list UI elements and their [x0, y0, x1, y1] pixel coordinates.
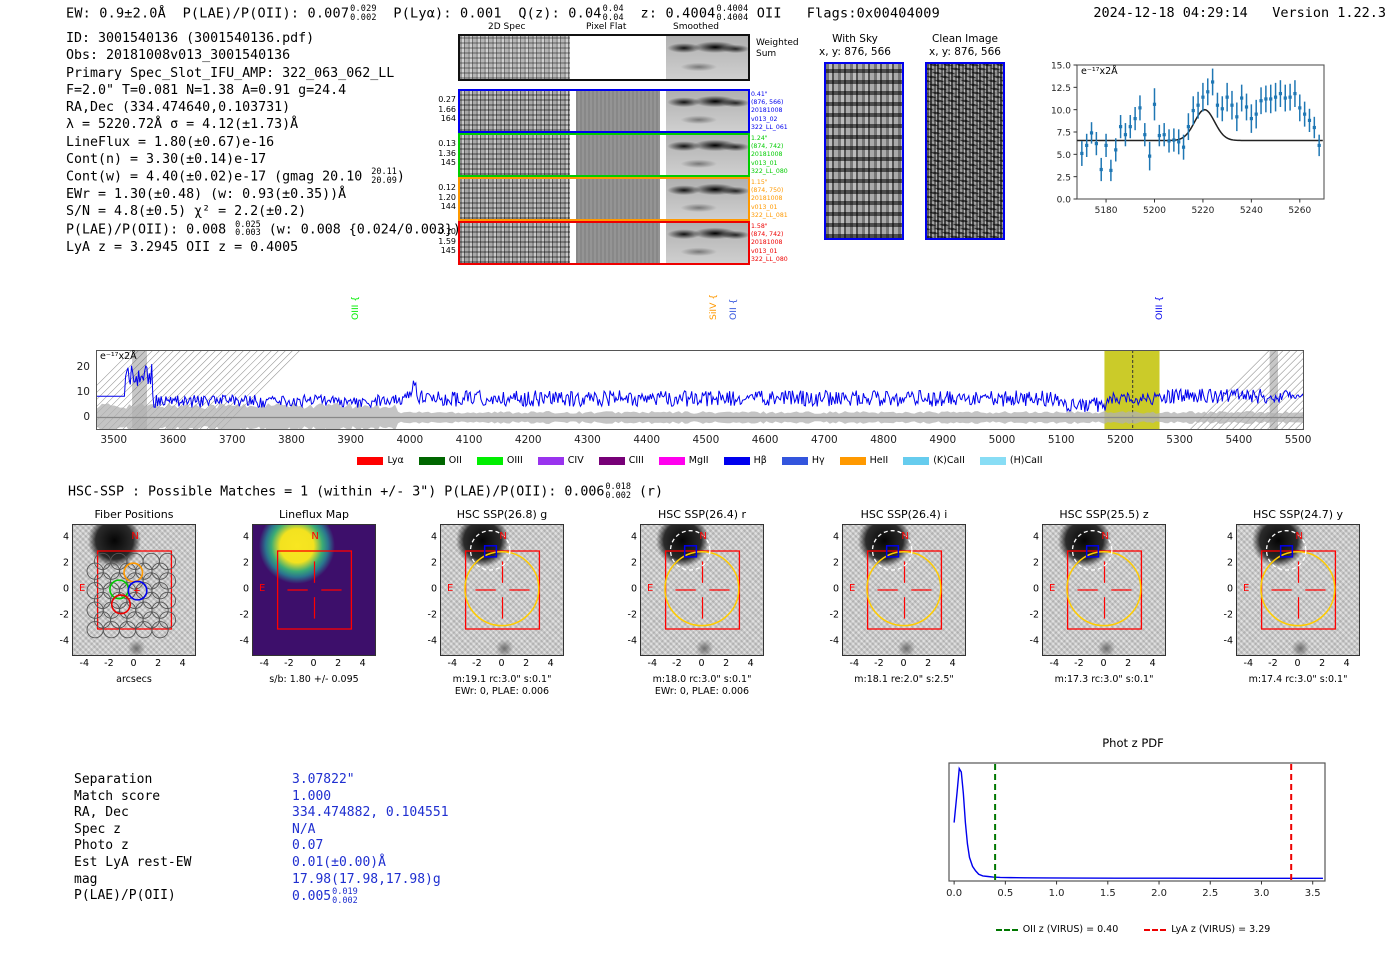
spec2d-row-0-smoothed [666, 91, 748, 131]
spectrum-legend-swatch-6 [724, 457, 750, 465]
with-sky-cutout [824, 62, 904, 240]
spec2d-row-2-smoothed [666, 179, 748, 219]
spectrum-legend-swatch-8 [840, 457, 866, 465]
spectrum-legend: LyαOIIOIIICIVCIIIMgIIHβHγHeII(K)CaII(H)C… [0, 455, 1400, 466]
spectrum-xtick-3500: 3500 [94, 434, 134, 446]
spectrum-xtick-4100: 4100 [449, 434, 489, 446]
hsc-ytick-2-4: -4 [424, 636, 437, 647]
hsc-ytick-0-4: -4 [56, 636, 69, 647]
hsc-ytick-5-3: -2 [1026, 610, 1039, 621]
compass-east-4: E [849, 583, 855, 594]
spectrum-legend-label-7: Hγ [812, 455, 825, 466]
svg-text:15.0: 15.0 [1051, 62, 1071, 72]
spec2d-row-3-smoothed [666, 223, 748, 263]
hsc-xtick-0-1: -2 [104, 658, 113, 669]
hsc-panel-title-5: HSC SSP(25.5) z [1020, 508, 1188, 521]
svg-text:0.0: 0.0 [946, 888, 962, 899]
svg-text:1.0: 1.0 [1049, 888, 1065, 899]
spectrum-legend-label-10: (H)CaII [1010, 455, 1043, 466]
hsc-xtick-1-0: -4 [260, 658, 269, 669]
hsc-panel-title-3: HSC SSP(26.4) r [618, 508, 786, 521]
photz-legend-label-0: OII z (VIRUS) = 0.40 [1023, 924, 1119, 935]
hsc-ytick-1-1: 2 [236, 558, 249, 569]
svg-text:2.5: 2.5 [1202, 888, 1218, 899]
hsc-ytick-1-4: -4 [236, 636, 249, 647]
hsc-panel-caption-2: m:19.1 rc:3.0" s:0.1"EWr: 0, PLAE: 0.006 [414, 674, 590, 698]
compass-north-2: N [499, 531, 506, 542]
hsc-ytick-3-0: 4 [624, 532, 637, 543]
spectrum-line-label-SiIV-18: SiIV { [708, 278, 719, 320]
hsc-panel-caption-3: m:18.0 rc:3.0" s:0.1"EWr: 0, PLAE: 0.006 [614, 674, 790, 698]
header-timestamp: 2024-12-18 04:29:14 [1093, 5, 1247, 21]
match-key-3: Spec z [74, 822, 121, 839]
spec2d-panel-group: 2D SpecPixel FlatSmoothedWeightedSum0.27… [458, 34, 758, 265]
spectrum-legend-item-3: CIV [538, 455, 584, 466]
spectrum-legend-swatch-7 [782, 457, 808, 465]
hsc-headline-lo: 0.002 [605, 492, 631, 501]
svg-text:10.0: 10.0 [1051, 106, 1071, 116]
hsc-ytick-2-2: 0 [424, 584, 437, 595]
spectrum-ytick-20: 20 [68, 361, 90, 373]
hsc-xtick-6-1: -2 [1268, 658, 1277, 669]
hsc-panel-0: Fiber Positions+NE-4-2024420-2-4arcsecs [72, 524, 196, 680]
hsc-xtick-5-3: 2 [1125, 658, 1131, 669]
spectrum-line-markers: OVI {CIII {MgII {MgII {SiIV {Lyα {OII {M… [0, 270, 1400, 360]
param-line-8: Cont(w) = 4.40(±0.02)e-17 (gmag 20.10 20… [66, 168, 461, 186]
header-z-value: 0.4004 [666, 6, 716, 22]
header-ew: EW: 0.9±2.0Å [66, 6, 166, 22]
spectrum-legend-swatch-4 [599, 457, 625, 465]
spec2d-row-2-pixelflat [576, 179, 661, 219]
compass-east-6: E [1243, 583, 1249, 594]
hsc-xtick-2-3: 2 [523, 658, 529, 669]
match-value-0: 3.07822" [292, 772, 355, 789]
spec2d-col-title-2: Smoothed [673, 22, 719, 32]
svg-text:5.0: 5.0 [1057, 151, 1072, 161]
match-value-1: 1.000 [292, 789, 331, 806]
spectrum-xtick-4200: 4200 [508, 434, 548, 446]
svg-text:3.0: 3.0 [1254, 888, 1270, 899]
with-sky-coords: x, y: 876, 566 [795, 46, 915, 59]
header-z-species: OII [757, 6, 782, 22]
hsc-panel-image-5: NE [1042, 524, 1166, 656]
hsc-xtick-4-2: 0 [900, 658, 906, 669]
spectrum-ytick-10: 10 [68, 386, 90, 398]
hsc-ytick-1-3: -2 [236, 610, 249, 621]
match-value-6: 17.98(17.98,17.98)g [292, 872, 441, 889]
param-line-9: EWr = 1.30(±0.48) (w: 0.93(±0.35))Å [66, 186, 461, 203]
spectrum-xtick-4600: 4600 [745, 434, 785, 446]
spectrum-legend-label-4: CIII [629, 455, 644, 466]
spec2d-row-1-right-labels: 1.24"(874, 742)20181008v013_01322_LL_080 [751, 135, 788, 176]
svg-text:5180: 5180 [1095, 206, 1118, 216]
hsc-headline-suffix: (r) [639, 485, 663, 500]
hsc-ytick-0-3: -2 [56, 610, 69, 621]
hsc-xtick-0-0: -4 [80, 658, 89, 669]
weighted-sum-2dspec [460, 36, 570, 79]
spectrum-ytick-0: 0 [68, 411, 90, 423]
compass-east-1: E [259, 583, 265, 594]
spec2d-row-0-2dspec [460, 91, 570, 131]
spectrum-legend-item-5: MgII [659, 455, 709, 466]
source-parameter-block: ID: 3001540136 (3001540136.pdf)Obs: 2018… [66, 30, 461, 256]
param-line-4: RA,Dec (334.474640,0.103731) [66, 99, 461, 116]
spec2d-row-1-2dspec [460, 135, 570, 175]
spectrum-xtick-3700: 3700 [212, 434, 252, 446]
hsc-panel-caption1-1: s/b: 1.80 +/- 0.095 [226, 674, 402, 686]
weighted-sum-strip: WeightedSum [458, 34, 750, 81]
hsc-xtick-5-4: 4 [1150, 658, 1156, 669]
hsc-xtick-2-0: -4 [448, 658, 457, 669]
hsc-ytick-6-1: 2 [1220, 558, 1233, 569]
compass-north-1: N [311, 531, 318, 542]
spectrum-line-label-OIII-33: OIII { [1154, 278, 1165, 320]
spectrum-legend-label-5: MgII [689, 455, 709, 466]
param-line-3: F=2.0" T=0.081 N=1.38 A=0.91 g=24.4 [66, 82, 461, 99]
match-value-7: 0.0050.0190.002 [292, 888, 358, 906]
spectrum-xtick-4000: 4000 [390, 434, 430, 446]
with-sky-title-text: With Sky [795, 33, 915, 46]
hsc-ytick-4-3: -2 [826, 610, 839, 621]
spec2d-row-0: 0.271.661640.41"(876, 566)20181008v013_0… [458, 89, 750, 133]
match-value-2: 334.474882, 0.104551 [292, 805, 449, 822]
spec2d-col-title-1: Pixel Flat [586, 22, 626, 32]
weighted-sum-smoothed [666, 36, 748, 79]
hsc-xtick-6-4: 4 [1344, 658, 1350, 669]
spec2d-row-3-2dspec [460, 223, 570, 263]
full-spectrum-chart: 0102035003600370038003900400041004200430… [96, 350, 1304, 430]
clean-image-title-text: Clean Image [900, 33, 1030, 46]
match-key-2: RA, Dec [74, 805, 129, 822]
spec2d-row-1: 0.131.361451.24"(874, 742)20181008v013_0… [458, 133, 750, 177]
hsc-panel-5: HSC SSP(25.5) zNE-4-2024420-2-4m:17.3 rc… [1042, 524, 1166, 680]
svg-text:7.5: 7.5 [1057, 129, 1071, 139]
hsc-xtick-0-4: 4 [180, 658, 186, 669]
spec2d-row-2: 0.121.201441.15"(874, 750)20181008v013_0… [458, 177, 750, 221]
hsc-panel-1: Lineflux MapNE-4-2024420-2-4s/b: 1.80 +/… [252, 524, 376, 680]
with-sky-title: With Sky x, y: 876, 566 [795, 33, 915, 59]
spectrum-legend-item-2: OIII [477, 455, 523, 466]
clean-image-coords: x, y: 876, 566 [900, 46, 1030, 59]
hsc-ytick-6-2: 0 [1220, 584, 1233, 595]
hsc-panel-4: HSC SSP(26.4) iNE-4-2024420-2-4m:18.1 re… [842, 524, 966, 680]
hsc-ytick-1-0: 4 [236, 532, 249, 543]
match-value-3: N/A [292, 822, 315, 839]
hsc-xtick-2-2: 0 [498, 658, 504, 669]
hsc-ytick-0-2: 0 [56, 584, 69, 595]
hsc-xtick-5-0: -4 [1050, 658, 1059, 669]
param-line-11: P(LAE)/P(OII): 0.008 0.0250.003 (w: 0.00… [66, 221, 461, 239]
hsc-panel-image-0: +NE [72, 524, 196, 656]
hsc-panel-image-2: NE [440, 524, 564, 656]
spectrum-legend-item-8: HeII [840, 455, 889, 466]
photz-legend-dash-1 [1144, 929, 1166, 931]
spec2d-spacer [458, 81, 758, 89]
hsc-ytick-4-1: 2 [826, 558, 839, 569]
hsc-ytick-5-1: 2 [1026, 558, 1039, 569]
hsc-ytick-6-0: 4 [1220, 532, 1233, 543]
hsc-panel-title-2: HSC SSP(26.8) g [418, 508, 586, 521]
param-line-0: ID: 3001540136 (3001540136.pdf) [66, 30, 461, 47]
spec2d-col-title-0: 2D Spec [488, 22, 525, 32]
hsc-ytick-6-3: -2 [1220, 610, 1233, 621]
photz-legend-item-1: LyA z (VIRUS) = 3.29 [1144, 924, 1270, 935]
header-qz-value: 0.04 [568, 6, 601, 22]
hsc-xtick-1-1: -2 [284, 658, 293, 669]
hsc-xtick-6-3: 2 [1319, 658, 1325, 669]
header-z-label: z: [641, 6, 658, 22]
hsc-ytick-3-3: -2 [624, 610, 637, 621]
spectrum-xtick-5300: 5300 [1160, 434, 1200, 446]
svg-text:5220: 5220 [1191, 206, 1214, 216]
line-fit-chart: 0.02.55.07.510.012.515.05180520052205240… [1035, 55, 1330, 225]
hsc-headline-prefix: HSC-SSP : Possible Matches = 1 (within +… [68, 485, 556, 500]
hsc-panel-caption1-4: m:18.1 re:2.0" s:2.5" [816, 674, 992, 686]
compass-east-2: E [447, 583, 453, 594]
hsc-ytick-4-2: 0 [826, 584, 839, 595]
hsc-panel-caption-5: m:17.3 rc:3.0" s:0.1" [1016, 674, 1192, 686]
match-key-7: P(LAE)/P(OII) [74, 888, 176, 905]
hsc-panel-title-0: Fiber Positions [50, 508, 218, 521]
hsc-panel-title-1: Lineflux Map [230, 508, 398, 521]
hsc-headline: HSC-SSP : Possible Matches = 1 (within +… [68, 483, 663, 500]
hsc-panel-image-4: NE [842, 524, 966, 656]
param-line-10: S/N = 4.8(±0.5) χ² = 2.2(±0.2) [66, 203, 461, 220]
spectrum-legend-item-9: (K)CaII [903, 455, 965, 466]
clean-image-image [927, 64, 1003, 238]
hsc-xtick-4-0: -4 [850, 658, 859, 669]
hsc-panel-caption2-3: EWr: 0, PLAE: 0.006 [614, 686, 790, 698]
hsc-panel-title-6: HSC SSP(24.7) y [1214, 508, 1382, 521]
hsc-xtick-4-4: 4 [950, 658, 956, 669]
spec2d-row-1-smoothed [666, 135, 748, 175]
hsc-ytick-0-1: 2 [56, 558, 69, 569]
header-version: Version 1.22.3 [1272, 5, 1386, 21]
hsc-xtick-3-1: -2 [672, 658, 681, 669]
spectrum-legend-item-1: OII [419, 455, 462, 466]
param-line-12: LyA z = 3.2945 OII z = 0.4005 [66, 239, 461, 256]
weighted-sum-label: WeightedSum [756, 38, 799, 60]
spectrum-legend-label-0: Lyα [387, 455, 403, 466]
hsc-panel-3: HSC SSP(26.4) rNE-4-2024420-2-4m:18.0 rc… [640, 524, 764, 680]
hsc-xtick-3-2: 0 [698, 658, 704, 669]
hsc-ytick-2-3: -2 [424, 610, 437, 621]
hsc-panel-caption1-5: m:17.3 rc:3.0" s:0.1" [1016, 674, 1192, 686]
hsc-panel-6: HSC SSP(24.7) yNE-4-2024420-2-4m:17.4 rc… [1236, 524, 1360, 680]
compass-north-0: N [131, 531, 138, 542]
spectrum-xtick-5000: 5000 [982, 434, 1022, 446]
header-flags: Flags:0x00404009 [807, 6, 940, 22]
clean-image-title: Clean Image x, y: 876, 566 [900, 33, 1030, 59]
match-key-4: Photo z [74, 838, 129, 855]
hsc-panel-2: HSC SSP(26.8) gNE-4-2024420-2-4m:19.1 rc… [440, 524, 564, 680]
compass-north-6: N [1295, 531, 1302, 542]
svg-text:2.5: 2.5 [1057, 173, 1071, 183]
spectrum-xtick-4500: 4500 [686, 434, 726, 446]
spectrum-legend-label-6: Hβ [754, 455, 767, 466]
spectrum-legend-swatch-1 [419, 457, 445, 465]
compass-north-4: N [901, 531, 908, 542]
spec2d-row-3-right-labels: 1.58"(874, 742)20181008v013_01322_LL_080 [751, 223, 788, 264]
spectrum-legend-item-7: Hγ [782, 455, 825, 466]
spectrum-legend-swatch-0 [357, 457, 383, 465]
hsc-ytick-3-2: 0 [624, 584, 637, 595]
spectrum-line-label-OII-20: OII { [728, 278, 739, 320]
compass-east-5: E [1049, 583, 1055, 594]
spectrum-legend-item-4: CIII [599, 455, 644, 466]
spectrum-frame [96, 350, 1304, 430]
spectrum-legend-swatch-2 [477, 457, 503, 465]
hsc-panel-caption-4: m:18.1 re:2.0" s:2.5" [816, 674, 992, 686]
spec2d-row-2-left-labels: 0.121.20144 [422, 183, 456, 212]
param-line-6: LineFlux = 1.80(±0.67)e-16 [66, 134, 461, 151]
spectrum-legend-swatch-10 [980, 457, 1006, 465]
spectrum-xtick-4700: 4700 [804, 434, 844, 446]
spec2d-row-1-left-labels: 0.131.36145 [422, 139, 456, 168]
hsc-xtick-3-0: -4 [648, 658, 657, 669]
hsc-ytick-3-1: 2 [624, 558, 637, 569]
header-plae-value: 0.007 [308, 6, 350, 22]
photz-legend-dash-0 [996, 929, 1018, 931]
spectrum-legend-label-2: OIII [507, 455, 523, 466]
spec2d-row-3-pixelflat [576, 223, 661, 263]
svg-text:0.0: 0.0 [1057, 196, 1072, 206]
svg-text:5200: 5200 [1143, 206, 1166, 216]
hsc-ytick-2-1: 2 [424, 558, 437, 569]
match-value-5: 0.01(±0.00)Å [292, 855, 386, 872]
hsc-panel-caption1-0: arcsecs [46, 674, 222, 686]
hsc-panel-image-6: NE [1236, 524, 1360, 656]
spec2d-row-0-pixelflat [576, 91, 661, 131]
hsc-ytick-0-0: 4 [56, 532, 69, 543]
header-timestamp-version: 2024-12-18 04:29:14 Version 1.22.3 [1093, 5, 1386, 21]
spectrum-xtick-4300: 4300 [567, 434, 607, 446]
match-key-1: Match score [74, 789, 160, 806]
param-line-2: Primary Spec_Slot_IFU_AMP: 322_063_062_L… [66, 65, 461, 82]
hsc-panel-caption2-2: EWr: 0, PLAE: 0.006 [414, 686, 590, 698]
header-z-lo: 0.4004 [717, 14, 749, 23]
hsc-ytick-4-4: -4 [826, 636, 839, 647]
svg-text:0.5: 0.5 [997, 888, 1013, 899]
hsc-xtick-4-1: -2 [874, 658, 883, 669]
hsc-xtick-2-4: 4 [548, 658, 554, 669]
spectrum-legend-swatch-3 [538, 457, 564, 465]
spec2d-row-2-right-labels: 1.15"(874, 750)20181008v013_01322_LL_081 [751, 179, 788, 220]
spectrum-units-label: e⁻¹⁷x2Å [100, 351, 137, 362]
photz-title: Phot z PDF [933, 736, 1333, 750]
match-value-4: 0.07 [292, 838, 323, 855]
compass-north-5: N [1101, 531, 1108, 542]
hsc-ytick-4-0: 4 [826, 532, 839, 543]
spectrum-line-label-OIII-8: OIII { [350, 278, 361, 320]
hsc-xtick-6-2: 0 [1294, 658, 1300, 669]
hsc-xtick-3-3: 2 [723, 658, 729, 669]
header-plae-label: P(LAE)/P(OII): [183, 6, 300, 22]
svg-text:12.5: 12.5 [1051, 84, 1071, 94]
spectrum-xtick-4800: 4800 [864, 434, 904, 446]
spec2d-row-3-left-labels: 0.101.59145 [422, 227, 456, 256]
clean-image-cutout [925, 62, 1005, 240]
svg-text:5240: 5240 [1240, 206, 1263, 216]
svg-text:1.5: 1.5 [1100, 888, 1116, 899]
hsc-xtick-5-2: 0 [1100, 658, 1106, 669]
hsc-xtick-2-1: -2 [472, 658, 481, 669]
hsc-xtick-1-3: 2 [335, 658, 341, 669]
weighted-sum-flat [576, 36, 661, 79]
hsc-panel-caption-1: s/b: 1.80 +/- 0.095 [226, 674, 402, 686]
hsc-xtick-6-0: -4 [1244, 658, 1253, 669]
hsc-panel-caption-6: m:17.4 rc:3.0" s:0.1" [1210, 674, 1386, 686]
header-plya: P(Lyα): 0.001 [393, 6, 501, 22]
spec2d-row-3: 0.101.591451.58"(874, 742)20181008v013_0… [458, 221, 750, 265]
spectrum-xtick-3800: 3800 [271, 434, 311, 446]
header-summary-line: EW: 0.9±2.0Å P(LAE)/P(OII): 0.0070.0290.… [66, 5, 940, 22]
hsc-xtick-1-4: 4 [360, 658, 366, 669]
hsc-ytick-5-2: 0 [1026, 584, 1039, 595]
hsc-xtick-5-1: -2 [1074, 658, 1083, 669]
match-key-0: Separation [74, 772, 152, 789]
hsc-xtick-0-2: 0 [130, 658, 136, 669]
hsc-ytick-6-4: -4 [1220, 636, 1233, 647]
spectrum-xtick-5400: 5400 [1219, 434, 1259, 446]
hsc-xtick-3-4: 4 [748, 658, 754, 669]
svg-text:+: + [134, 584, 141, 597]
header-qz-lo: 0.04 [603, 14, 624, 23]
hsc-ytick-5-0: 4 [1026, 532, 1039, 543]
param-line-7: Cont(n) = 3.30(±0.14)e-17 [66, 151, 461, 168]
spectrum-legend-item-0: Lyα [357, 455, 403, 466]
spectrum-legend-label-3: CIV [568, 455, 584, 466]
match-key-5: Est LyA rest-EW [74, 855, 191, 872]
match-key-6: mag [74, 872, 97, 889]
hsc-panel-image-1: NE [252, 524, 376, 656]
photz-pdf-chart: 0.00.51.01.52.02.53.03.5 [933, 755, 1333, 903]
spectrum-legend-swatch-5 [659, 457, 685, 465]
svg-text:3.5: 3.5 [1305, 888, 1321, 899]
spectrum-legend-swatch-9 [903, 457, 929, 465]
photz-legend-label-1: LyA z (VIRUS) = 3.29 [1171, 924, 1270, 935]
spectrum-xtick-4900: 4900 [923, 434, 963, 446]
spectrum-legend-label-8: HeII [870, 455, 889, 466]
hsc-panel-caption1-6: m:17.4 rc:3.0" s:0.1" [1210, 674, 1386, 686]
hsc-ytick-3-4: -4 [624, 636, 637, 647]
hsc-panel-image-3: NE [640, 524, 764, 656]
spec2d-row-0-right-labels: 0.41"(876, 566)20181008v013_02322_LL_061 [751, 91, 788, 132]
spectrum-xtick-5200: 5200 [1100, 434, 1140, 446]
header-qz-label: Q(z): [518, 6, 560, 22]
hsc-xtick-1-2: 0 [310, 658, 316, 669]
with-sky-image [826, 64, 902, 238]
hsc-panel-caption1-2: m:19.1 rc:3.0" s:0.1" [414, 674, 590, 686]
hsc-xtick-4-3: 2 [925, 658, 931, 669]
linefit-units-label: e⁻¹⁷x2Å [1081, 66, 1118, 77]
photz-legend-item-0: OII z (VIRUS) = 0.40 [996, 924, 1119, 935]
header-plae-lo: 0.002 [350, 14, 377, 23]
hsc-panel-caption1-3: m:18.0 rc:3.0" s:0.1" [614, 674, 790, 686]
spectrum-legend-item-10: (H)CaII [980, 455, 1043, 466]
hsc-headline-value: 0.006 [564, 485, 604, 500]
hsc-panel-caption-0: arcsecs [46, 674, 222, 686]
spectrum-xtick-3600: 3600 [153, 434, 193, 446]
photz-legend: OII z (VIRUS) = 0.40LyA z (VIRUS) = 3.29 [933, 924, 1333, 935]
hsc-ytick-1-2: 0 [236, 584, 249, 595]
param-line-5: λ = 5220.72Å σ = 4.12(±1.73)Å [66, 116, 461, 133]
spec2d-row-1-pixelflat [576, 135, 661, 175]
param-line-1: Obs: 20181008v013_3001540136 [66, 47, 461, 64]
hsc-ytick-2-0: 4 [424, 532, 437, 543]
spectrum-legend-item-6: Hβ [724, 455, 767, 466]
svg-text:2.0: 2.0 [1151, 888, 1167, 899]
